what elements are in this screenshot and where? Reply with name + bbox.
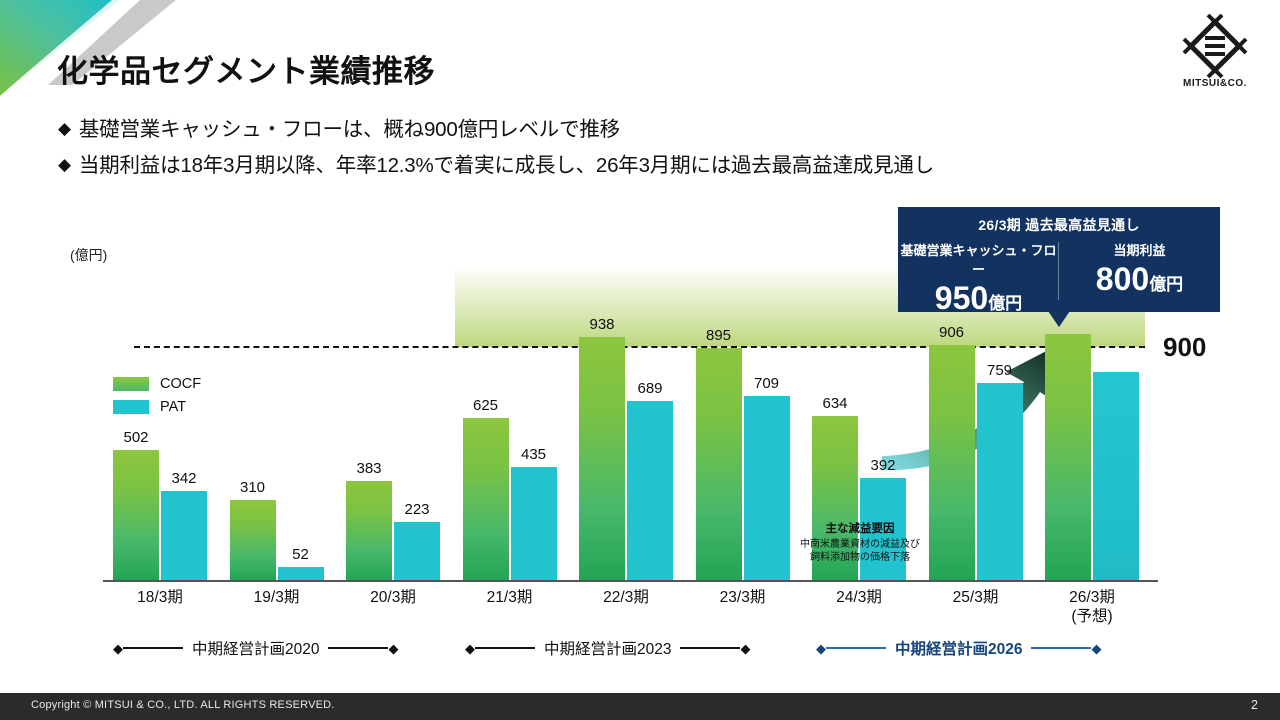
plan-line-left xyxy=(826,647,886,649)
bar-value-cocf-20-3期: 383 xyxy=(334,460,404,477)
callout-cocf-value-wrap: 950億円 xyxy=(898,279,1059,323)
bar-value-pat-22-3期: 689 xyxy=(615,380,685,397)
plan-line-right xyxy=(680,647,740,649)
callout-title: 26/3期 過去最高益見通し xyxy=(898,207,1220,235)
bar-value-pat-18-3期: 342 xyxy=(149,470,219,487)
legend-item-pat: PAT xyxy=(113,397,201,416)
plan-period-2026-label: 中期経営計画2026 xyxy=(886,637,1031,659)
bar-pat-21-3期 xyxy=(511,467,557,580)
plan-line-right xyxy=(1031,647,1091,649)
x-axis-label-sub: (予想) xyxy=(1022,607,1162,626)
bar-cocf-19-3期 xyxy=(230,500,276,580)
bar-pat-19-3期 xyxy=(278,567,324,580)
bar-value-cocf-22-3期: 938 xyxy=(567,316,637,333)
forecast-callout: 26/3期 過去最高益見通し 基礎営業キャッシュ・フロー 950億円 当期利益 … xyxy=(898,207,1220,312)
plan-start-diamond-icon: ◆ xyxy=(113,642,123,655)
plan-period-2020-label: 中期経営計画2020 xyxy=(183,637,328,659)
callout-pat-unit: 億円 xyxy=(1149,275,1183,294)
callout-cocf-value: 950 xyxy=(935,280,988,316)
callout-cocf-header: 基礎営業キャッシュ・フロー xyxy=(898,240,1059,278)
bar-pat-26-3期 xyxy=(1093,372,1139,580)
bar-pat-18-3期 xyxy=(161,491,207,580)
bar-value-pat-25-3期: 759 xyxy=(965,362,1035,379)
plan-line-left xyxy=(123,647,183,649)
bar-value-cocf-19-3期: 310 xyxy=(218,479,288,496)
plan-period-2023-label: 中期経営計画2023 xyxy=(535,637,680,659)
plan-start-diamond-icon: ◆ xyxy=(465,642,475,655)
bar-value-cocf-25-3期: 906 xyxy=(917,324,987,341)
x-axis-label-main: 26/3期 xyxy=(1022,588,1162,607)
plan-period-2023: ◆ 中期経営計画2023 ◆ xyxy=(465,637,750,659)
plan-end-diamond-icon: ◆ xyxy=(740,642,750,655)
bar-value-cocf-24-3期: 634 xyxy=(800,395,870,412)
callout-pat-value: 800 xyxy=(1096,261,1149,297)
decline-factor-line-2: 飼料添加物の価格下落 xyxy=(770,551,950,564)
bar-cocf-20-3期 xyxy=(346,481,392,580)
slide-root: MITSUI&CO. 化学品セグメント業績推移 ◆基礎営業キャッシュ・フローは、… xyxy=(0,0,1280,720)
bar-cocf-22-3期 xyxy=(579,337,625,580)
bar-pat-25-3期 xyxy=(977,383,1023,580)
legend-swatch-cocf xyxy=(113,377,149,391)
legend-swatch-pat xyxy=(113,400,149,414)
callout-cocf-unit: 億円 xyxy=(988,294,1022,313)
footer-bar: Copyright © MITSUI & CO., LTD. ALL RIGHT… xyxy=(0,693,1280,720)
plan-end-diamond-icon: ◆ xyxy=(1091,642,1101,655)
callout-pointer-icon xyxy=(1048,311,1070,327)
page-number: 2 xyxy=(1251,698,1258,712)
copyright-text: Copyright © MITSUI & CO., LTD. ALL RIGHT… xyxy=(31,699,335,711)
chart-legend: COCF PAT xyxy=(113,374,201,420)
bar-cocf-26-3期 xyxy=(1045,334,1091,580)
x-axis-label-26-3期: 26/3期(予想) xyxy=(1022,588,1162,626)
callout-column-pat: 当期利益 800億円 xyxy=(1059,240,1220,323)
plan-line-left xyxy=(475,647,535,649)
bar-value-pat-21-3期: 435 xyxy=(499,446,569,463)
plan-start-diamond-icon: ◆ xyxy=(816,642,826,655)
plan-period-2020: ◆ 中期経営計画2020 ◆ xyxy=(113,637,398,659)
callout-pat-value-wrap: 800億円 xyxy=(1059,260,1220,304)
bar-pat-22-3期 xyxy=(627,401,673,580)
decline-factor-line-1: 中南米農業資材の減益及び xyxy=(770,538,950,551)
bar-pat-20-3期 xyxy=(394,522,440,580)
bar-value-cocf-21-3期: 625 xyxy=(451,397,521,414)
bar-value-cocf-23-3期: 895 xyxy=(684,327,754,344)
plan-line-right xyxy=(328,647,388,649)
legend-item-cocf: COCF xyxy=(113,374,201,393)
bar-value-pat-23-3期: 709 xyxy=(732,375,802,392)
legend-label-cocf: COCF xyxy=(160,376,201,392)
bar-value-cocf-18-3期: 502 xyxy=(101,429,171,446)
decline-factor-annotation: 主な減益要因 中南米農業資材の減益及び 飼料添加物の価格下落 xyxy=(770,520,950,564)
callout-column-cocf: 基礎営業キャッシュ・フロー 950億円 xyxy=(898,240,1059,323)
plan-end-diamond-icon: ◆ xyxy=(388,642,398,655)
bar-cocf-21-3期 xyxy=(463,418,509,580)
x-axis-line xyxy=(103,580,1158,582)
bar-value-pat-19-3期: 52 xyxy=(266,546,336,563)
bar-value-pat-24-3期: 392 xyxy=(848,457,918,474)
chart-plot-area: 900 502342310523832236254359386898957096… xyxy=(0,0,1280,720)
decline-factor-heading: 主な減益要因 xyxy=(770,520,950,536)
bar-value-pat-20-3期: 223 xyxy=(382,501,452,518)
legend-label-pat: PAT xyxy=(160,399,186,415)
callout-pat-header: 当期利益 xyxy=(1059,240,1220,259)
plan-period-2026: ◆ 中期経営計画2026 ◆ xyxy=(816,637,1101,659)
